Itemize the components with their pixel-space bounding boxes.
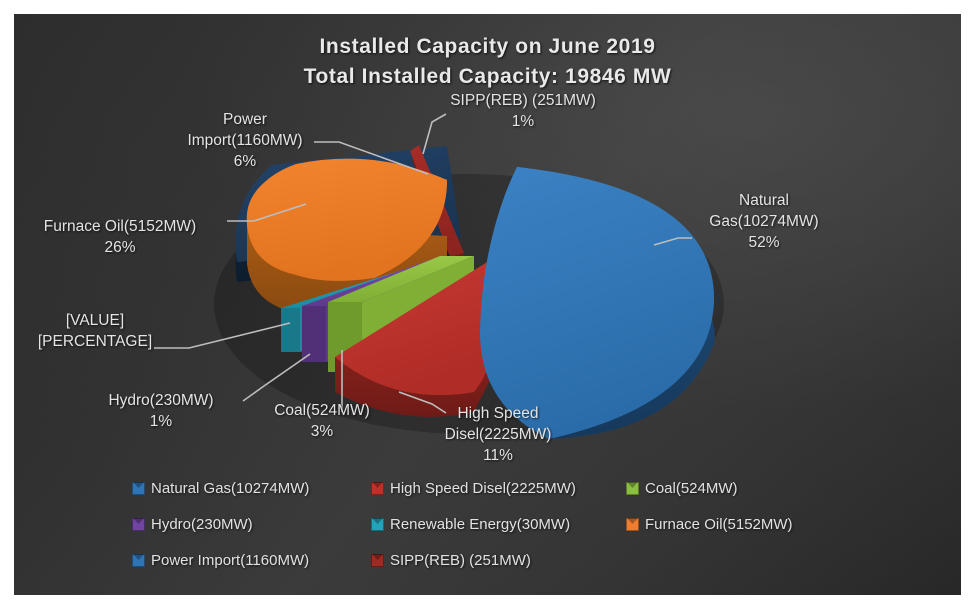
legend-swatch-sipp-reb	[371, 554, 384, 567]
legend-item-furnace-oil[interactable]: Furnace Oil(5152MW)	[626, 516, 793, 533]
legend-item-power-import[interactable]: Power Import(1160MW)	[132, 552, 371, 569]
chart-canvas: Installed Capacity on June 2019 Total In…	[14, 14, 961, 595]
legend-item-renewable-energy[interactable]: Renewable Energy(30MW)	[371, 516, 626, 533]
pie-slice-natural-gas[interactable]	[480, 167, 715, 439]
legend-label-furnace-oil: Furnace Oil(5152MW)	[645, 516, 793, 533]
legend-item-high-speed-disel[interactable]: High Speed Disel(2225MW)	[371, 480, 626, 497]
legend-label-high-speed-disel: High Speed Disel(2225MW)	[390, 480, 576, 497]
legend-label-coal: Coal(524MW)	[645, 480, 738, 497]
legend-item-sipp-reb[interactable]: SIPP(REB) (251MW)	[371, 552, 531, 569]
legend-swatch-coal	[626, 482, 639, 495]
legend-item-coal[interactable]: Coal(524MW)	[626, 480, 738, 497]
legend-item-natural-gas[interactable]: Natural Gas(10274MW)	[132, 480, 371, 497]
legend-label-hydro: Hydro(230MW)	[151, 516, 253, 533]
legend-item-hydro[interactable]: Hydro(230MW)	[132, 516, 371, 533]
legend-label-sipp-reb: SIPP(REB) (251MW)	[390, 552, 531, 569]
legend-row: Natural Gas(10274MW) High Speed Disel(22…	[132, 480, 852, 516]
legend-swatch-hydro	[132, 518, 145, 531]
legend-label-renewable-energy: Renewable Energy(30MW)	[390, 516, 570, 533]
legend-swatch-renewable-energy	[371, 518, 384, 531]
chart-legend: Natural Gas(10274MW) High Speed Disel(22…	[132, 480, 852, 588]
legend-swatch-power-import	[132, 554, 145, 567]
legend-swatch-natural-gas	[132, 482, 145, 495]
legend-swatch-high-speed-disel	[371, 482, 384, 495]
legend-label-natural-gas: Natural Gas(10274MW)	[151, 480, 309, 497]
legend-row: Power Import(1160MW) SIPP(REB) (251MW)	[132, 552, 852, 588]
legend-swatch-furnace-oil	[626, 518, 639, 531]
legend-label-power-import: Power Import(1160MW)	[151, 552, 309, 569]
legend-row: Hydro(230MW) Renewable Energy(30MW) Furn…	[132, 516, 852, 552]
